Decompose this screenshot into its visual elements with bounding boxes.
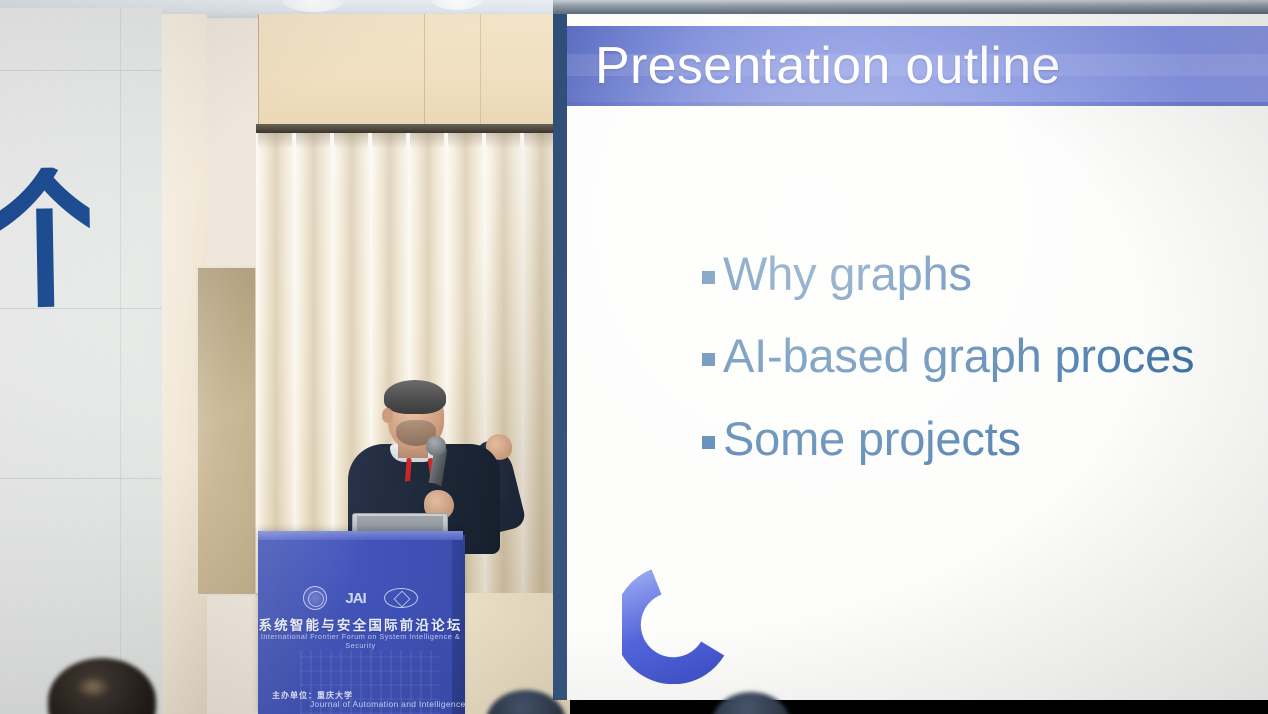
diamond-emblem-logo-icon — [384, 588, 418, 608]
wall-seam — [0, 70, 162, 71]
wall-seam — [0, 308, 162, 309]
wall-seam — [0, 478, 162, 479]
list-item: Why graphs — [702, 249, 1268, 298]
list-item: AI-based graph proces — [702, 331, 1268, 380]
wall-panel — [258, 14, 480, 130]
wall-seam — [120, 8, 121, 714]
audience-head-highlight — [76, 676, 110, 698]
projection-screen-top-edge — [553, 0, 1268, 14]
bullet-label: Why graphs — [723, 249, 972, 298]
podium-logo-row: JAI — [258, 583, 463, 613]
university-seal-logo-icon — [303, 586, 327, 610]
podium-title-cn: 系统智能与安全国际前沿论坛 — [258, 614, 463, 634]
bullet-label: AI-based graph proces — [723, 331, 1194, 380]
list-item: Some projects — [702, 414, 1268, 463]
bullet-label: Some projects — [723, 414, 1021, 463]
slide-title-banner: Presentation outline — [567, 26, 1268, 106]
wall-calligraphy-character: 个 — [0, 167, 91, 309]
jai-logo: JAI — [345, 590, 365, 607]
square-bullet-icon — [702, 271, 715, 284]
doorway — [196, 266, 258, 596]
wall-panel-seam — [424, 14, 425, 130]
podium-journal-label: Journal of Automation and Intelligence — [310, 699, 466, 709]
speaker-ear — [382, 408, 393, 423]
presentation-photo-scene: 个 Presentation outline Why — [0, 0, 1268, 714]
blue-arc-graphic-icon — [622, 569, 737, 684]
wall-panel-seam — [258, 14, 259, 130]
podium-top-edge — [258, 531, 463, 540]
projected-slide: Presentation outline Why graphs AI-based… — [567, 14, 1268, 700]
slide-title: Presentation outline — [595, 36, 1061, 96]
square-bullet-icon — [702, 436, 715, 449]
slide-bullet-list: Why graphs AI-based graph proces Some pr… — [702, 249, 1268, 496]
square-bullet-icon — [702, 353, 715, 366]
speaker-hair — [384, 380, 446, 414]
left-wall: 个 — [0, 8, 162, 714]
podium-title-en: International Frontier Forum on System I… — [258, 632, 463, 650]
